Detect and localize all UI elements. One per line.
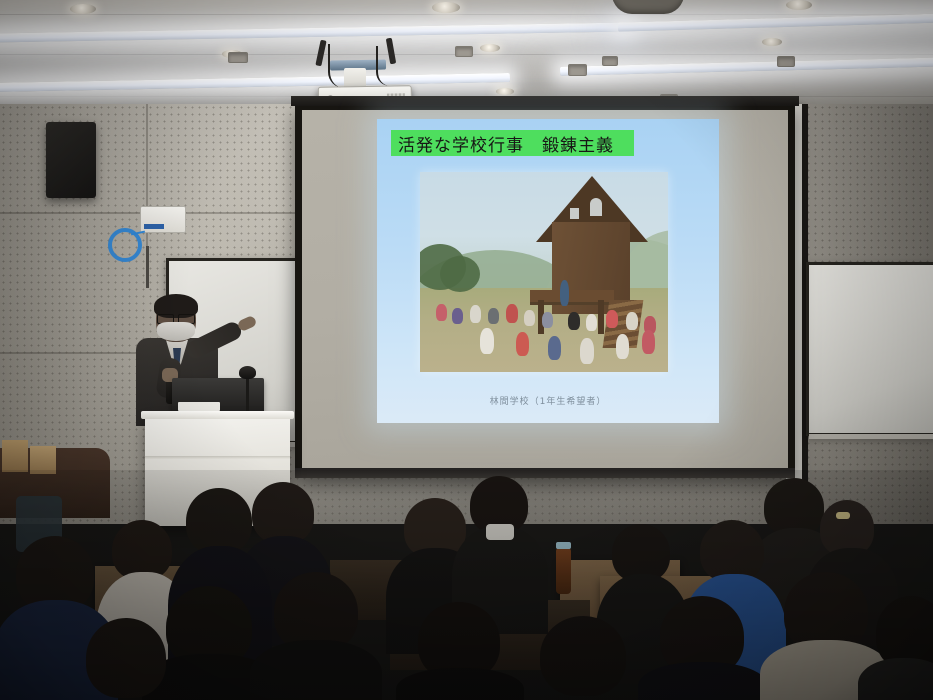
tea-bottle [556,548,571,594]
slide-title: 活発な学校行事 鍛錬主義 [391,131,614,156]
ceiling-vent [455,46,473,57]
photo-person [452,308,463,324]
wall-control-panel [140,206,186,233]
photo-person [616,334,629,359]
attendee [700,520,764,582]
downlight-icon [786,0,812,10]
photo-lodge-post [598,300,604,334]
lecture-hall-photo: 活発な学校行事 鍛錬主義 [0,0,933,700]
photo-person [516,332,529,356]
attendee [396,668,524,700]
glasses-icon [157,314,195,322]
photo-person [560,280,569,306]
attendee [186,488,252,554]
attendee [540,616,626,696]
ceiling-light-strip [0,73,510,92]
whiteboard [806,262,933,436]
ceiling-vent [777,56,795,67]
photo-person [586,314,597,331]
wall-speaker [46,122,96,198]
cardboard-boxes [2,440,28,472]
panel-label [144,224,164,229]
hair-clip-icon [836,512,850,519]
photo-person [436,304,447,321]
photo-person [542,312,553,328]
whiteboard-tray [809,434,933,439]
downlight-icon [496,88,514,95]
photo-person [568,312,580,330]
face-mask [157,322,195,341]
ceiling-light-strip [618,13,933,31]
photo-person [480,328,494,354]
attendee [112,520,172,580]
ceiling [0,0,933,108]
photo-lodge-window [590,198,602,216]
slide-caption: 林間学校（1年生希望者） [377,394,719,407]
microphone-icon [239,366,256,379]
screen-bottom-bar [295,468,795,478]
photo-person [642,330,655,354]
photo-person [470,305,481,323]
ceiling-vent [602,56,618,66]
cardboard-boxes [30,446,56,474]
projected-slide: 活発な学校行事 鍛錬主義 [377,119,719,423]
projection-screen: 活発な学校行事 鍛錬主義 [295,104,795,478]
bottle-cap [556,542,571,549]
photo-person [524,310,535,326]
attendee [252,482,314,544]
photo-person [488,308,499,324]
ceiling-vent [568,64,587,76]
photo-lodge-window [570,208,579,219]
ceiling-vent [228,52,248,63]
photo-person [506,304,518,323]
attendee [638,662,768,700]
wall-conduit [146,246,149,288]
photo-tree [440,256,480,292]
ceiling-speaker [612,0,684,14]
projector-cable [328,44,344,88]
laptop-label [178,402,220,411]
photo-person [626,312,638,330]
attendee-shirt-collar [486,524,514,540]
attendee [86,618,166,698]
photo-person [548,336,561,360]
downlight-icon [432,2,460,13]
projector-cable [376,46,390,86]
downlight-icon [70,4,96,14]
slide-title-band: 活発な学校行事 鍛錬主義 [391,130,634,156]
mountain-lodge-photo [420,172,668,372]
attendee [250,640,382,700]
screen-top-bar [291,96,799,106]
screen-surface: 活発な学校行事 鍛錬主義 [302,110,788,468]
podium-seam [145,456,290,459]
downlight-icon [762,38,782,46]
photo-person [606,310,618,328]
ceiling-light-strip [0,22,630,42]
downlight-icon [480,44,500,52]
photo-person [580,338,594,364]
podium-top [141,411,294,419]
